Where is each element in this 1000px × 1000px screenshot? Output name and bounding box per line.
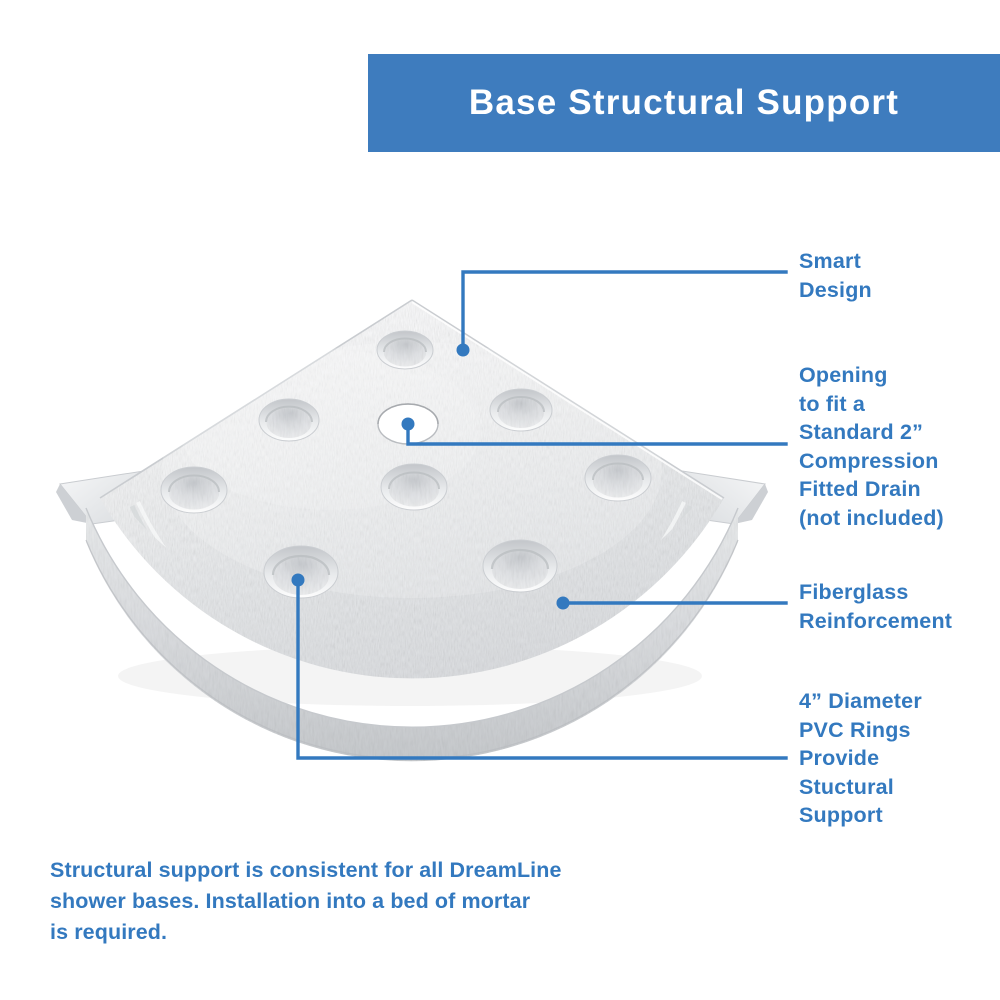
callout-line: PVC Rings [799,716,922,745]
pvc-ring [161,467,227,513]
pvc-ring [259,399,319,441]
callout-line: Standard 2” [799,418,944,447]
callout-line: to fit a [799,390,944,419]
callout-drain-opening: Opening to fit a Standard 2” Compression… [799,361,944,532]
callout-line: (not included) [799,504,944,533]
callout-line: Opening [799,361,944,390]
callout-line: Reinforcement [799,607,952,636]
footer-caption: Structural support is consistent for all… [50,855,690,948]
callout-line: Fiberglass [799,578,952,607]
callout-line: Stuctural [799,773,922,802]
pvc-ring [483,540,557,592]
callout-fiberglass: Fiberglass Reinforcement [799,578,952,635]
pvc-ring [264,546,338,598]
callout-line: Fitted Drain [799,475,944,504]
callout-line: Design [799,276,872,305]
callout-line: Support [799,801,922,830]
header-banner: Base Structural Support [368,54,1000,152]
callout-pvc-rings: 4” Diameter PVC Rings Provide Stuctural … [799,687,922,830]
callout-line: Provide [799,744,922,773]
pvc-ring [490,389,552,431]
page-title: Base Structural Support [469,83,899,123]
callout-line: 4” Diameter [799,687,922,716]
caption-line: shower bases. Installation into a bed of… [50,886,690,917]
pvc-ring [381,464,447,510]
pvc-ring [585,455,651,501]
callout-smart-design: Smart Design [799,247,872,304]
pvc-ring [377,331,433,369]
caption-line: Structural support is consistent for all… [50,855,690,886]
callout-line: Compression [799,447,944,476]
caption-line: is required. [50,917,690,948]
drain-opening [378,404,438,444]
callout-line: Smart [799,247,872,276]
infographic-canvas: Base Structural Support Smart Design Ope… [0,0,1000,1000]
